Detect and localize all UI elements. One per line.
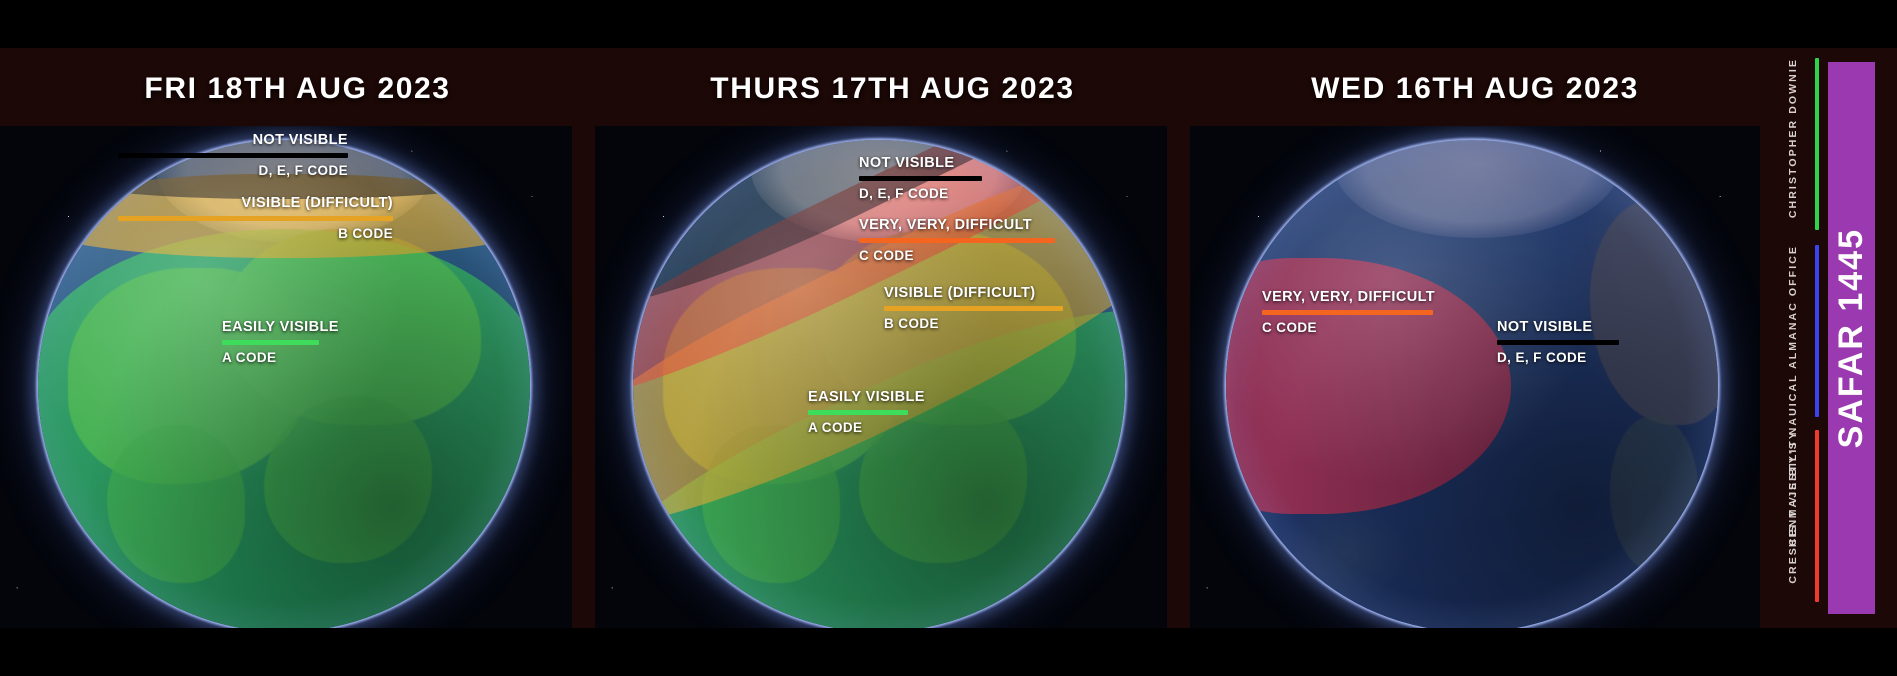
legend-title: NOT VISIBLE — [1497, 320, 1747, 335]
panels-row: FRI 18TH AUG 2023 — [0, 48, 1760, 628]
legend-code: D, E, F CODE — [859, 187, 1109, 201]
legend-code: A CODE — [808, 421, 1028, 435]
legend-color-bar-b — [884, 306, 1063, 311]
panel-title-thurs-17: THURS 17TH AUG 2023 — [595, 72, 1190, 106]
legend-color-bar-def — [1497, 340, 1619, 345]
legend-code: D, E, F CODE — [1497, 351, 1747, 365]
rail-label-subject: CRESCENT VISIBILITY — [1787, 430, 1799, 584]
rail-accent-green-bar — [1815, 58, 1819, 230]
legend-title: NOT VISIBLE — [859, 156, 1109, 171]
legend-color-bar-b — [118, 216, 393, 221]
legend-very-very-difficult: VERY, VERY, DIFFICULT C CODE — [1262, 290, 1522, 335]
legend-easily-visible: EASILY VISIBLE A CODE — [808, 390, 1028, 435]
legend-color-bar-c — [1262, 310, 1433, 315]
legend-visible-difficult: VISIBLE (DIFFICULT) B CODE — [884, 286, 1134, 331]
legend-code: D, E, F CODE — [118, 164, 348, 178]
legend-easily-visible: EASILY VISIBLE A CODE — [222, 320, 422, 365]
legend-color-bar-def — [859, 176, 982, 181]
crescent-visibility-infographic: FRI 18TH AUG 2023 — [0, 0, 1897, 676]
landmass-south-america — [1610, 416, 1699, 573]
legend-title: EASILY VISIBLE — [222, 320, 422, 335]
legend-color-bar-a — [808, 410, 908, 415]
panel-title-fri-18: FRI 18TH AUG 2023 — [0, 72, 595, 106]
legend-very-very-difficult: VERY, VERY, DIFFICULT C CODE — [859, 218, 1119, 263]
right-rail: CHRISTOPHER DOWNIE HIS MAJESTY'S NAUICAL… — [1760, 0, 1897, 676]
legend-code: C CODE — [859, 249, 1119, 263]
legend-code: A CODE — [222, 351, 422, 365]
legend-visible-difficult: VISIBLE (DIFFICULT) B CODE — [118, 196, 393, 241]
globe-scene-wed-16 — [1190, 126, 1760, 628]
legend-color-bar-def — [118, 153, 348, 158]
panel-thurs-17[interactable]: THURS 17TH AUG 2023 — [595, 48, 1190, 628]
rail-accent-red-bar — [1815, 430, 1819, 602]
legend-color-bar-c — [859, 238, 1055, 243]
legend-title: NOT VISIBLE — [118, 133, 348, 148]
legend-code: C CODE — [1262, 321, 1522, 335]
brand-bar-safar: SAFAR 1445 — [1828, 62, 1875, 614]
legend-title: VERY, VERY, DIFFICULT — [1262, 290, 1522, 305]
legend-not-visible: NOT VISIBLE D, E, F CODE — [859, 156, 1109, 201]
brand-title: SAFAR 1445 — [1832, 228, 1871, 448]
globe-thurs-17 — [633, 140, 1125, 628]
legend-not-visible: NOT VISIBLE D, E, F CODE — [1497, 320, 1747, 365]
panel-title-wed-16: WED 16TH AUG 2023 — [1190, 72, 1760, 106]
globe-wed-16 — [1226, 140, 1718, 628]
rail-accent-blue-bar — [1815, 245, 1819, 417]
legend-title: EASILY VISIBLE — [808, 390, 1028, 405]
legend-title: VERY, VERY, DIFFICULT — [859, 218, 1119, 233]
panel-wed-16[interactable]: WED 16TH AUG 2023 — [1190, 48, 1760, 628]
legend-title: VISIBLE (DIFFICULT) — [884, 286, 1134, 301]
panel-fri-18[interactable]: FRI 18TH AUG 2023 — [0, 48, 595, 628]
legend-code: B CODE — [118, 227, 393, 241]
legend-color-bar-a — [222, 340, 319, 345]
rail-label-author: CHRISTOPHER DOWNIE — [1787, 58, 1799, 218]
legend-title: VISIBLE (DIFFICULT) — [118, 196, 393, 211]
legend-not-visible: NOT VISIBLE D, E, F CODE — [118, 133, 348, 178]
legend-code: B CODE — [884, 317, 1134, 331]
